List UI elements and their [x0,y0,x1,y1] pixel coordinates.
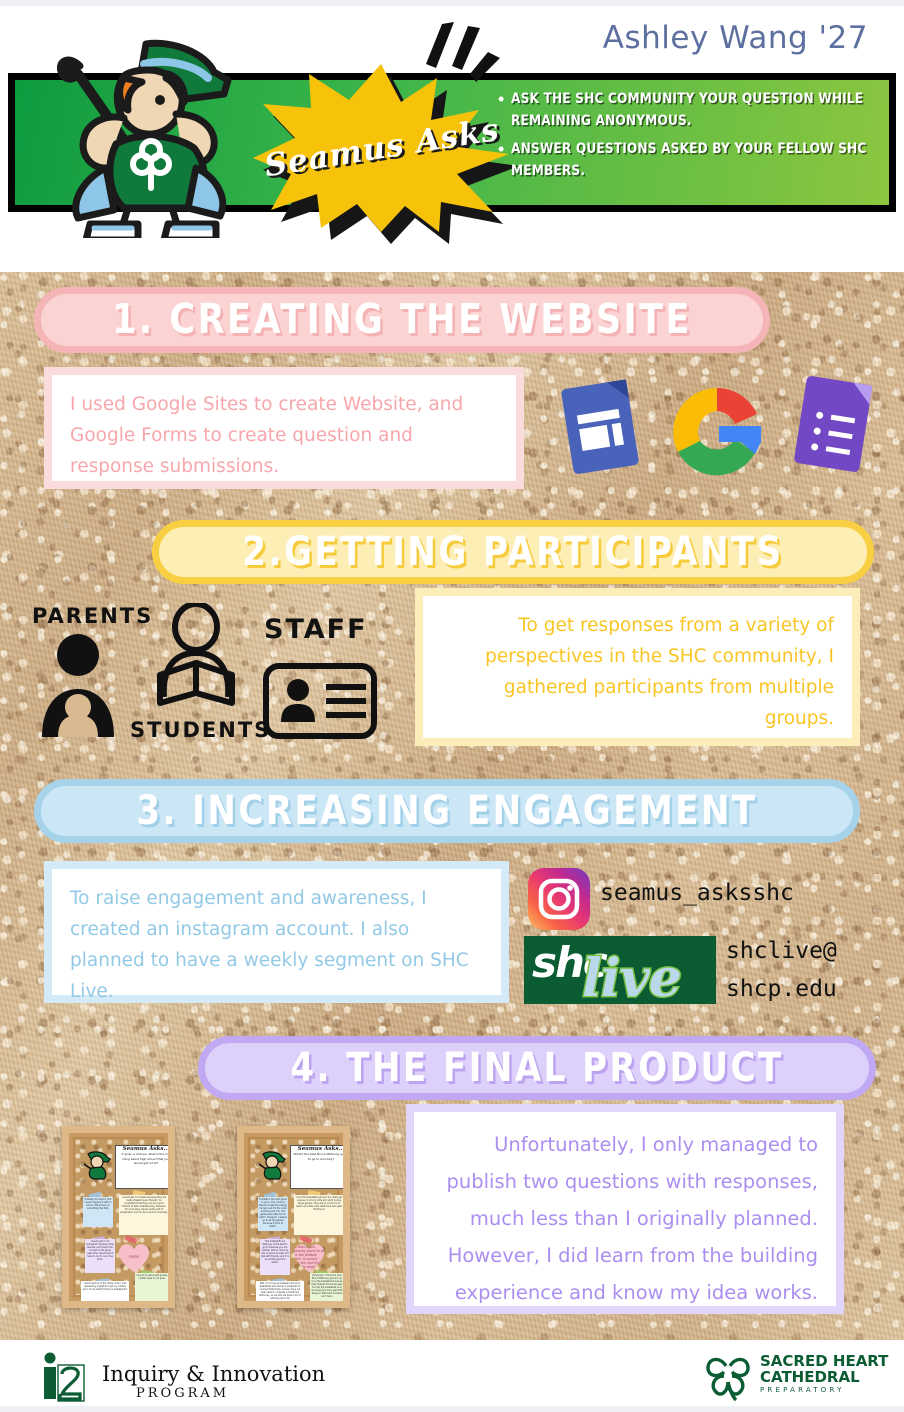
section-4-body-card: Unfortunately, I only managed to publish… [406,1104,844,1314]
bullet-dot-icon: • [498,88,504,110]
poster-header: Ashley Wang '27 [0,0,904,272]
header-bullet-text: ANSWER QUESTIONS ASKED BY YOUR FELLOW SH… [511,138,871,182]
section-1-heading-pill: 1. CREATING THE WEBSITE [34,287,770,353]
header-bullet-text: ASK THE SHC COMMUNITY YOUR QUESTION WHIL… [511,88,871,132]
author-name: Ashley Wang '27 [603,20,868,56]
heart-note: The best Bruce Mahoney game to go to is … [291,1241,327,1273]
section-2-heading-pill: 2.GETTING PARTICIPANTS [152,520,874,584]
section-2-heading-text: 2.GETTING PARTICIPANTS [242,528,783,575]
thumb-bubble-question: If given a chance, what is the one thing… [122,1152,171,1165]
student-reading-icon [140,603,252,715]
speed-lines-icon [420,22,530,92]
google-forms-icon [794,375,873,472]
sticky-note: Probably homework, But I would replace i… [83,1197,113,1227]
instagram-handle[interactable]: seamus_asksshc [600,880,794,906]
sticky-note: I would do away with grades. I prefer pa… [135,1273,169,1308]
sticky-note: Personally, I think the best Bruce Mahon… [310,1273,344,1308]
group-label-staff: STAFF [264,614,368,645]
poster-root: Ashley Wang '27 [0,0,904,1412]
group-label-students: STUDENTS [130,718,271,742]
tape-icon [300,1235,313,1244]
sacred-heart-cathedral-logo: SACRED HEART CATHEDRAL PREPARATORY [700,1350,880,1402]
header-bullet-list: • ASK THE SHC COMMUNITY YOUR QUESTION WH… [498,88,898,188]
sticky-note: Football is the best game to go to. The … [258,1197,288,1231]
google-g-icon [667,382,767,482]
parent-child-icon [36,633,120,741]
final-product-photo[interactable]: Seamus Asks... What's the best Bruce Mah… [237,1126,350,1308]
sticky-note: I would get rid of homework because if t… [85,1239,115,1273]
program-name: Inquiry & Innovation [102,1362,325,1386]
section-4-heading-text: 4. THE FINAL PRODUCT [290,1044,783,1091]
section-1-heading-text: 1. CREATING THE WEBSITE [112,296,692,343]
sticky-note: The football Bruce Mahoney is the best t… [260,1239,290,1275]
staff-id-card-icon [262,662,378,740]
leprechaun-mascot-icon [28,18,258,238]
thumb-bubble-question: What's the best Bruce Mahoney game to go… [293,1152,348,1160]
instagram-icon[interactable] [528,868,590,930]
thumb-bubble-title: Seamus Asks... [293,1147,349,1151]
leprechaun-mascot-icon [255,1146,287,1180]
shc-live-logo-icon: shc shclive live [524,936,716,1004]
shamrock-heart-icon [700,1350,756,1402]
sticky-note: I love the basketball games! You really … [294,1195,344,1235]
leprechaun-mascot-icon [80,1146,112,1180]
thumb-question-bubble: Seamus Asks... What's the best Bruce Mah… [290,1145,350,1189]
sticky-note: IMO, it's a toss-up between women's bask… [256,1281,304,1308]
google-sites-icon [561,379,640,474]
group-label-parents: PARENTS [32,604,153,628]
thumb-bubble-title: Seamus Asks... [118,1147,174,1151]
sticky-note: I would get rid of the dress code! I lov… [81,1281,129,1308]
page-fold-icon [851,383,873,405]
tape-icon [125,1235,138,1244]
section-3-body-card: To raise engagement and awareness, I cre… [44,861,509,1003]
sticky-note: I would get rid of tests because they ar… [119,1195,169,1235]
section-3-heading-text: 3. INCREASING ENGAGEMENT [136,787,757,834]
section-2-body-card: To get responses from a variety of persp… [415,588,860,746]
school-name-line3: PREPARATORY [760,1386,845,1394]
header-bullet-item: • ASK THE SHC COMMUNITY YOUR QUESTION WH… [498,88,898,132]
final-product-photo[interactable]: Seamus Asks... If given a chance, what i… [62,1126,175,1308]
page-fold-icon [607,379,629,401]
bullet-dot-icon: • [498,138,504,160]
section-3-heading-pill: 3. INCREASING ENGAGEMENT [34,779,860,843]
thumb-question-bubble: Seamus Asks... If given a chance, what i… [115,1145,175,1189]
school-name-line2: CATHEDRAL [760,1368,860,1386]
section-1-body-card: I used Google Sites to create Website, a… [44,367,524,489]
inquiry-innovation-logo: Inquiry & Innovation PROGRAM [30,1348,260,1404]
section-4-heading-pill: 4. THE FINAL PRODUCT [198,1036,876,1100]
heart-note: PROM! [116,1241,152,1273]
poster-footer: Inquiry & Innovation PROGRAM SACRED HEAR… [0,1340,904,1412]
bottom-divider [0,1406,904,1412]
program-subtitle: PROGRAM [136,1386,229,1401]
top-divider [0,0,904,6]
shc-live-email[interactable]: shclive@ shcp.edu [726,932,896,1008]
header-bullet-item: • ANSWER QUESTIONS ASKED BY YOUR FELLOW … [498,138,898,182]
